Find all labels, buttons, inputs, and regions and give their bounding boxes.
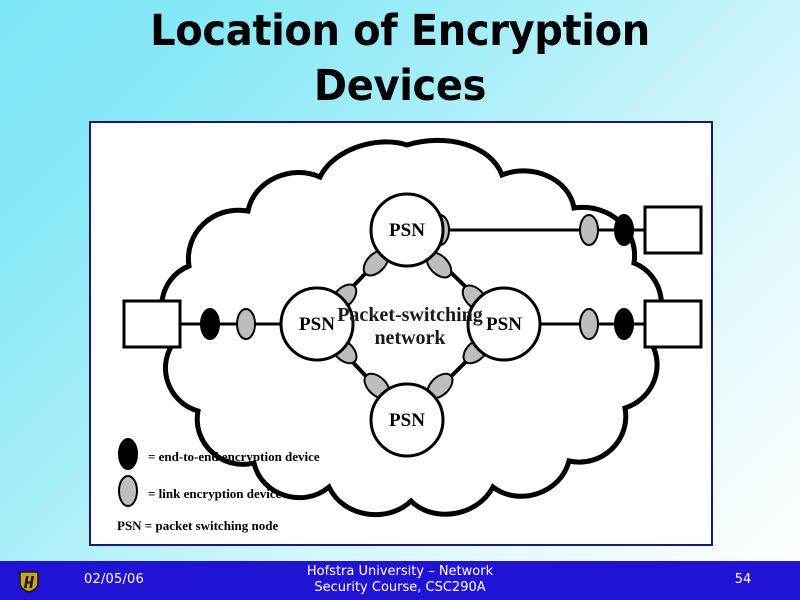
encryption-location-diagram: PSN PSN PSN PSN Packet-switching net bbox=[91, 123, 711, 544]
legend-link-label: = link encryption device bbox=[148, 486, 282, 501]
link-device-icon bbox=[119, 476, 137, 506]
link-device-icon bbox=[580, 309, 598, 339]
link-device-icon bbox=[580, 215, 598, 245]
host-left-box bbox=[124, 301, 180, 347]
slide: Location of Encryption Devices bbox=[0, 0, 800, 600]
psn-node-bottom: PSN bbox=[371, 384, 443, 456]
end-to-end-device-icon bbox=[119, 439, 137, 469]
psn-node-label: PSN bbox=[486, 314, 522, 335]
end-to-end-device-icon bbox=[615, 309, 633, 339]
footer-course-info: Hofstra University – Network Security Co… bbox=[250, 564, 550, 596]
end-to-end-device-icon bbox=[615, 215, 633, 245]
page-title: Location of Encryption Devices bbox=[65, 4, 735, 114]
figure-frame: PSN PSN PSN PSN Packet-switching net bbox=[89, 121, 713, 546]
footer-bar: 02/05/06 Hofstra University – Network Se… bbox=[0, 561, 800, 600]
host-right-top-box bbox=[645, 207, 701, 253]
cloud-label-line1: Packet-switching bbox=[337, 304, 483, 326]
legend-end-to-end-label: = end-to-end encryption device bbox=[148, 449, 320, 464]
end-to-end-device-icon bbox=[201, 309, 219, 339]
legend-psn-note: PSN = packet switching node bbox=[117, 518, 278, 533]
psn-node-label: PSN bbox=[389, 220, 425, 241]
cloud-label-line2: network bbox=[374, 327, 446, 349]
footer-page-number: 54 bbox=[713, 572, 773, 587]
psn-node-label: PSN bbox=[299, 314, 335, 335]
psn-node-top: PSN bbox=[371, 194, 443, 266]
psn-node-label: PSN bbox=[389, 410, 425, 431]
legend-item-link: = link encryption device bbox=[119, 476, 282, 506]
link-device-icon bbox=[237, 309, 255, 339]
hofstra-shield-logo bbox=[19, 571, 39, 593]
host-right-mid-box bbox=[645, 301, 701, 347]
footer-date: 02/05/06 bbox=[84, 572, 144, 587]
